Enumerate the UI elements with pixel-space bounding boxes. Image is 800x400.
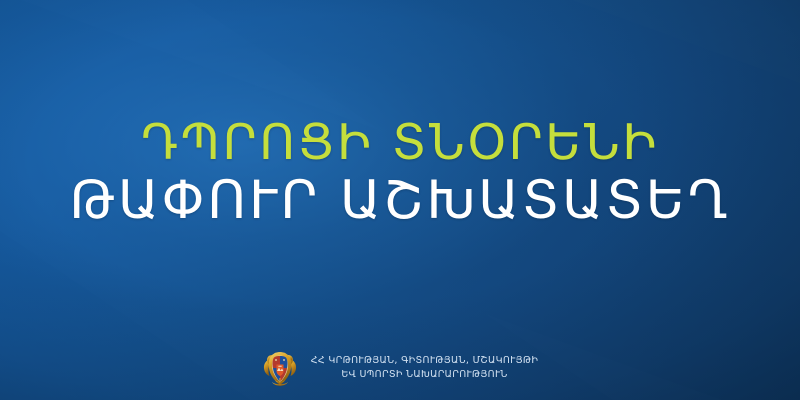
announcement-banner: ԴՊՐՈՑԻ ՏՆՕՐԵՆԻ ԹԱՓՈՒՐ ԱՇԽԱՏԱՏԵՂ bbox=[0, 0, 800, 400]
headline-line-primary: ԴՊՐՈՑԻ ՏՆՕՐԵՆԻ bbox=[0, 118, 800, 168]
headline-block: ԴՊՐՈՑԻ ՏՆՕՐԵՆԻ ԹԱՓՈՒՐ ԱՇԽԱՏԱՏԵՂ bbox=[0, 118, 800, 228]
banner-content: ԴՊՐՈՑԻ ՏՆՕՐԵՆԻ ԹԱՓՈՒՐ ԱՇԽԱՏԱՏԵՂ bbox=[0, 0, 800, 400]
ministry-footer: ՀՀ ԿՐԹՈՒԹՅԱՆ, ԳԻՏՈՒԹՅԱՆ, ՄՇԱԿՈՒՅԹԻ ԵՎ ՍՊ… bbox=[0, 349, 800, 388]
armenia-coat-of-arms-icon bbox=[262, 349, 298, 388]
ministry-name-line-1: ՀՀ ԿՐԹՈՒԹՅԱՆ, ԳԻՏՈՒԹՅԱՆ, ՄՇԱԿՈՒՅԹԻ bbox=[311, 355, 538, 368]
ministry-name-block: ՀՀ ԿՐԹՈՒԹՅԱՆ, ԳԻՏՈՒԹՅԱՆ, ՄՇԱԿՈՒՅԹԻ ԵՎ ՍՊ… bbox=[311, 355, 538, 382]
ministry-name-line-2: ԵՎ ՍՊՈՐՏԻ ՆԱԽԱՐԱՐՈՒԹՅՈՒՆ bbox=[341, 369, 507, 382]
headline-line-secondary: ԹԱՓՈՒՐ ԱՇԽԱՏԱՏԵՂ bbox=[0, 174, 800, 228]
